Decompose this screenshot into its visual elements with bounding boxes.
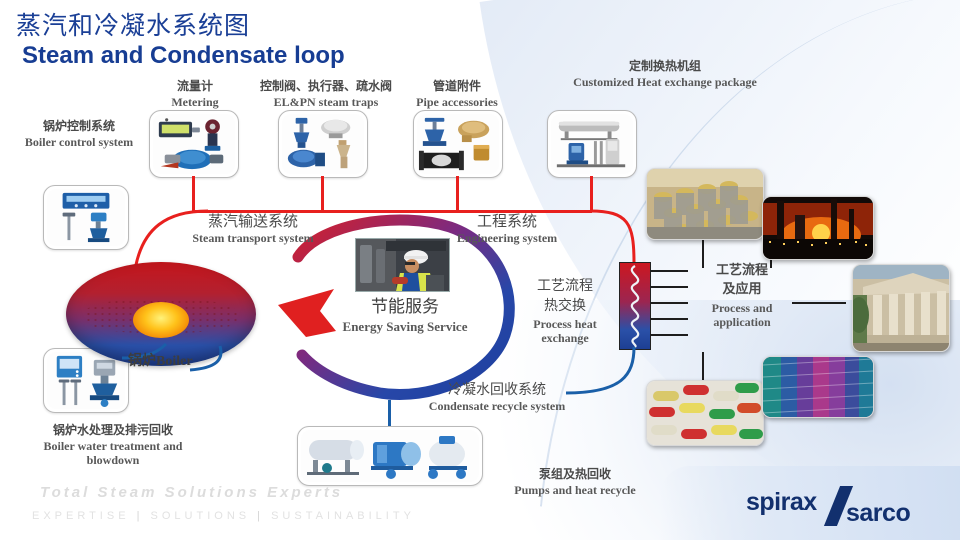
label-pipe-accessories-en: Pipe accessories — [398, 96, 516, 110]
connector-pumps — [388, 400, 391, 426]
label-boiler: 锅炉Boiler — [128, 352, 228, 370]
card-steam-traps[interactable] — [278, 110, 368, 178]
label-metering-cn: 流量计 — [150, 80, 240, 94]
label-steam-transport-cn: 蒸汽输送系统 — [178, 213, 328, 230]
label-engineering-en: Engineering system — [442, 232, 572, 246]
hx-outlet-line-5 — [650, 334, 688, 336]
label-process-heat-exchange-en: Process heat exchange — [520, 318, 610, 346]
label-steam-traps-en: EL&PN steam traps — [246, 96, 406, 110]
card-pumps[interactable] — [297, 426, 483, 486]
heat-exchanger — [619, 262, 651, 350]
label-pumps-heat-recycle-cn: 泵组及热回收 — [480, 468, 670, 482]
heat-exchanger-steam-feed — [584, 205, 644, 267]
label-heat-exchange-package-en: Customized Heat exchange package — [546, 76, 784, 90]
label-process-application-cn2: 及应用 — [690, 283, 794, 298]
label-engineering-cn: 工程系统 — [442, 213, 572, 230]
label-energy-saving-cn: 节能服务 — [310, 298, 500, 318]
label-engineering: 工程系统 Engineering system — [442, 213, 572, 246]
label-process-application-cn: 工艺流程 — [690, 264, 794, 279]
hx-outlet-line-3 — [650, 302, 688, 304]
hx-outlet-line-4 — [650, 318, 688, 320]
card-pipe-accessories[interactable] — [413, 110, 503, 178]
label-process-application-en: Process and application — [690, 302, 794, 330]
label-steam-transport-en: Steam transport system — [178, 232, 328, 246]
footer-tagline: Total Steam Solutions Experts — [40, 484, 343, 501]
logo-word-spirax: spirax — [746, 488, 817, 517]
label-boiler-control-cn: 锅炉控制系统 — [24, 120, 134, 134]
card-heat-exchange-package[interactable] — [547, 110, 637, 178]
label-steam-transport: 蒸汽输送系统 Steam transport system — [178, 213, 328, 246]
label-metering-en: Metering — [150, 96, 240, 110]
app-connector-building — [792, 302, 846, 304]
label-boiler-water-treatment: 锅炉水处理及排污回收 Boiler water treatment and bl… — [16, 424, 210, 467]
hx-outlet-line-1 — [650, 270, 688, 272]
application-photo-refinery[interactable] — [762, 196, 874, 260]
spirax-sarco-logo[interactable]: spirax sarco — [746, 486, 942, 526]
label-energy-saving: 节能服务 Energy Saving Service — [310, 298, 500, 334]
label-pipe-accessories-cn: 管道附件 — [398, 80, 516, 94]
label-process-heat-exchange: 工艺流程 热交换 Process heat exchange — [520, 278, 610, 346]
label-boiler-water-treatment-cn: 锅炉水处理及排污回收 — [16, 424, 210, 438]
page-title-chinese: 蒸汽和冷凝水系统图 — [16, 6, 250, 42]
steam-traps-photo — [282, 114, 364, 174]
label-process-heat-exchange-cn: 工艺流程 — [520, 278, 610, 294]
label-condensate-recycle-cn: 冷凝水回收系统 — [412, 382, 582, 398]
footer-pillars: EXPERTISE | SOLUTIONS | SUSTAINABILITY — [32, 510, 415, 522]
pillar-solutions: SOLUTIONS — [151, 510, 251, 522]
label-pumps-heat-recycle-en: Pumps and heat recycle — [480, 484, 670, 498]
app-connector-pharma — [702, 352, 704, 382]
application-photo-pharma[interactable] — [646, 380, 764, 446]
label-boiler-control-en: Boiler control system — [24, 136, 134, 150]
condensate-return-pipe — [560, 345, 660, 415]
engineer-photo — [355, 238, 450, 292]
label-boiler-text: 锅炉Boiler — [128, 354, 228, 370]
slide-canvas: 蒸汽和冷凝水系统图 Steam and Condensate loop 流量计 … — [0, 0, 960, 540]
logo-word-sarco: sarco — [846, 499, 910, 528]
label-boiler-control: 锅炉控制系统 Boiler control system — [24, 120, 134, 150]
label-boiler-water-treatment-en: Boiler water treatment and blowdown — [16, 440, 210, 468]
label-pumps-heat-recycle: 泵组及热回收 Pumps and heat recycle — [480, 468, 670, 498]
application-photo-building[interactable] — [852, 264, 950, 352]
pillar-expertise: EXPERTISE — [32, 510, 130, 522]
label-steam-traps: 控制阀、执行器、疏水阀 EL&PN steam traps — [246, 80, 406, 110]
hx-outlet-line-2 — [650, 286, 688, 288]
application-photo-bottling[interactable] — [646, 168, 764, 240]
boiler-control-photo — [47, 189, 125, 246]
heat-exchange-package-photo — [551, 114, 633, 174]
boiler-flame — [133, 302, 189, 338]
label-pipe-accessories: 管道附件 Pipe accessories — [398, 80, 516, 110]
pillar-separator-1: | — [137, 510, 144, 522]
app-connector-bottling — [702, 238, 704, 268]
label-condensate-recycle-en: Condensate recycle system — [412, 400, 582, 414]
card-boiler-control[interactable] — [43, 185, 129, 250]
label-heat-exchange-package-cn: 定制换热机组 — [546, 60, 784, 74]
card-metering[interactable] — [149, 110, 239, 178]
water-treatment-photo — [47, 352, 125, 409]
pillar-separator-2: | — [257, 510, 264, 522]
label-steam-traps-cn: 控制阀、执行器、疏水阀 — [246, 80, 406, 94]
label-process-application: 工艺流程 及应用 Process and application — [690, 264, 794, 329]
metering-photo — [153, 114, 235, 174]
label-metering: 流量计 Metering — [150, 80, 240, 110]
label-energy-saving-en: Energy Saving Service — [310, 320, 500, 335]
pipe-accessories-photo — [417, 114, 499, 174]
label-heat-exchange-package: 定制换热机组 Customized Heat exchange package — [546, 60, 784, 90]
application-photo-textile[interactable] — [762, 356, 874, 418]
pumps-photo — [301, 430, 479, 482]
page-title-english: Steam and Condensate loop — [22, 42, 345, 70]
pillar-sustainability: SUSTAINABILITY — [271, 510, 415, 522]
label-process-heat-exchange-cn2: 热交换 — [520, 298, 610, 314]
label-condensate-recycle: 冷凝水回收系统 Condensate recycle system — [412, 382, 582, 414]
